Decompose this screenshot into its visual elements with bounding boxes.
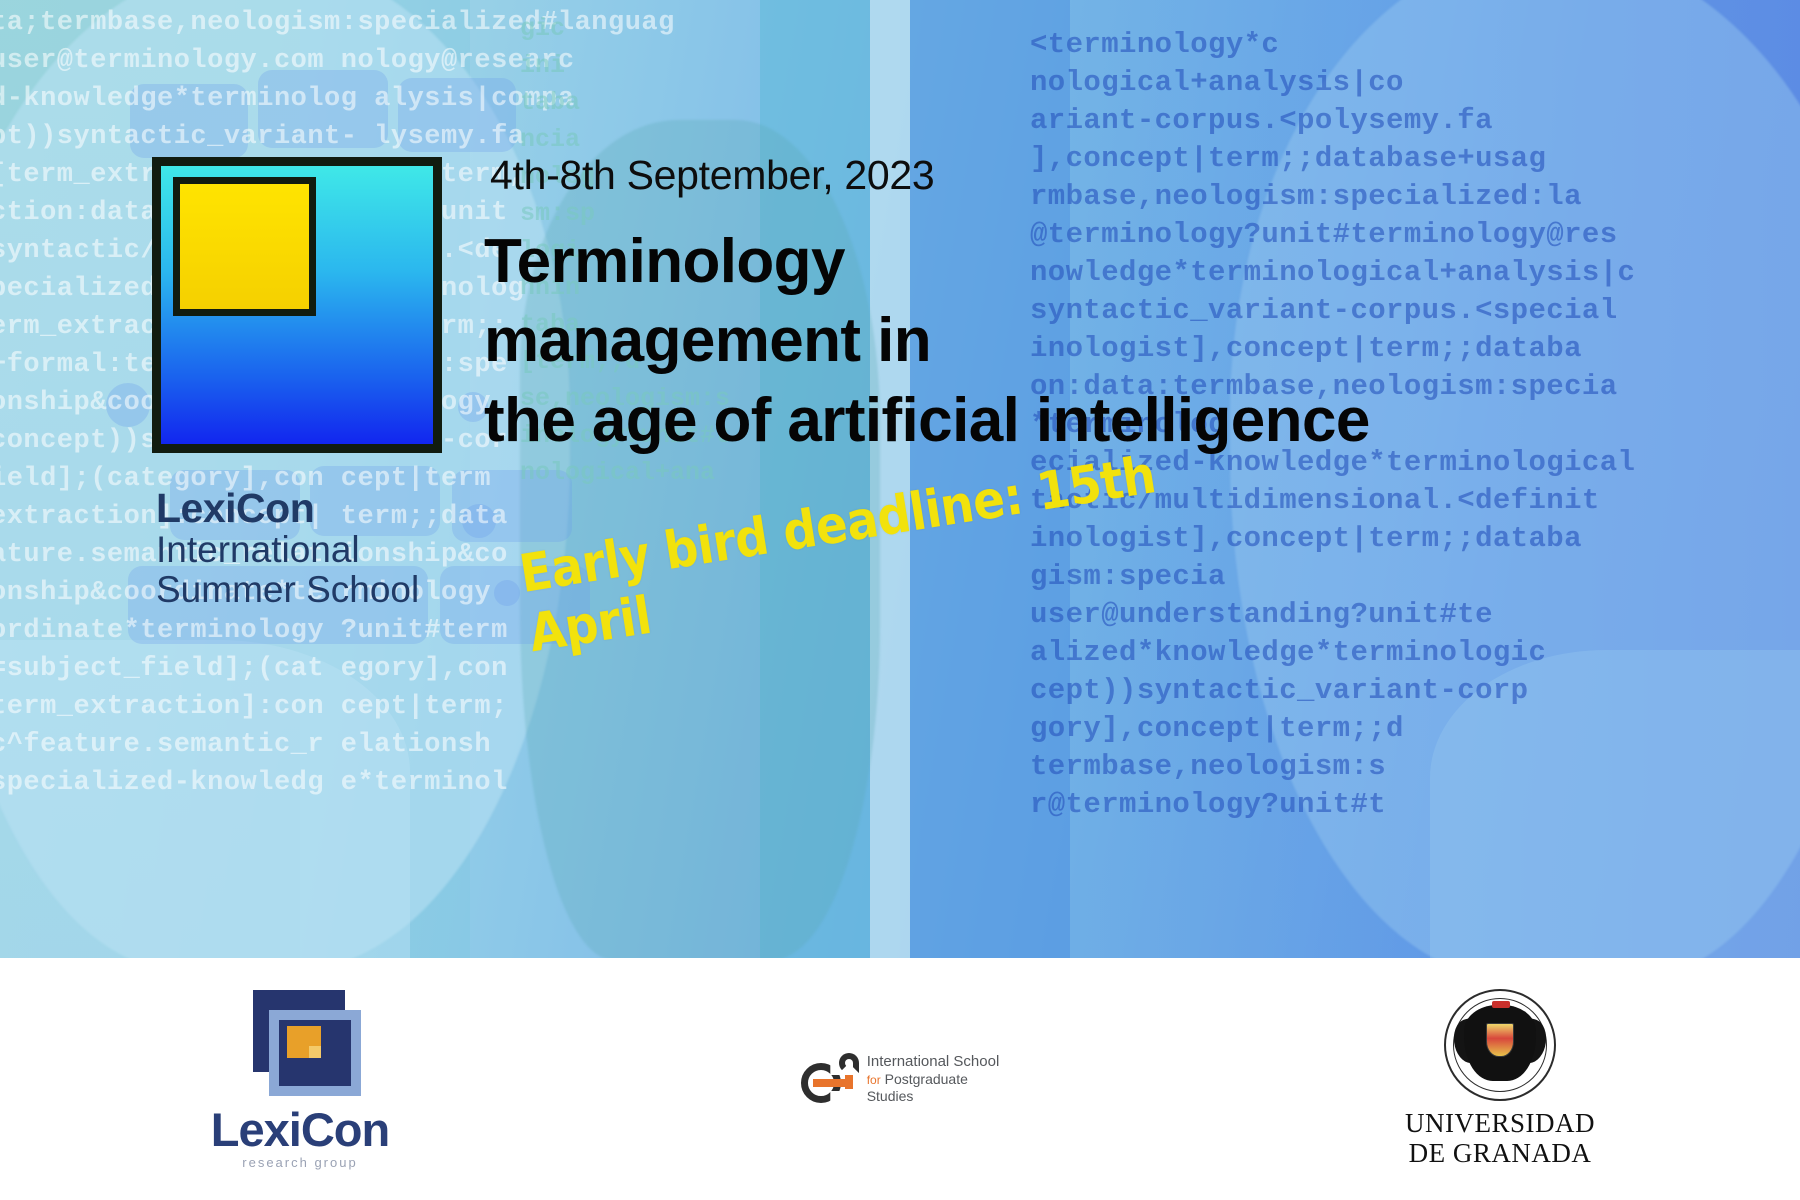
logo-line-summer-school: Summer School [156,570,576,609]
isps-logo: International School for Postgraduate St… [801,1053,1000,1105]
puzzle-piece-decoration [130,84,248,158]
ugr-line-2: DE GRANADA [1405,1139,1595,1169]
puzzle-piece-decoration [398,78,516,152]
hero-section: ta;termbase,neologism:specialized#langua… [0,0,1800,958]
head-silhouette-right-neck [1430,650,1800,958]
event-date: 4th-8th September, 2023 [490,152,934,199]
lexicon-research-subtitle: research group [242,1155,357,1170]
isps-line-1: International School [867,1053,1000,1071]
isps-dot [845,1075,853,1089]
neuron-dot-decoration [106,383,150,427]
lexicon-summer-school-wordmark: LexiCon International Summer School [156,487,576,609]
lexicon-square-logo [152,157,442,453]
page-title: Terminology management in the age of art… [484,222,1524,460]
lexicon-research-title: LexiCon [211,1102,389,1157]
sponsor-lexicon-research-group: LexiCon research group [0,988,600,1170]
logo-line-international: International [156,530,576,569]
logo-yellow-square [173,177,316,316]
isps-bar [813,1079,847,1087]
isps-line-2-text: Postgraduate [885,1071,968,1087]
isps-wordmark: International School for Postgraduate St… [867,1053,1000,1105]
isps-line-2-prefix: for [867,1073,881,1087]
title-line-3: the age of artificial intelligence [484,381,1524,460]
isps-circle-icon [801,1053,859,1105]
lexicon-research-group-icon [235,988,365,1098]
isps-hook [839,1053,859,1073]
sponsor-universidad-de-granada: UNIVERSIDAD DE GRANADA [1200,989,1800,1168]
logo-line-lexicon: LexiCon [156,487,576,530]
isps-line-2: for Postgraduate [867,1071,1000,1088]
title-line-2: management in [484,301,1524,380]
sponsor-international-school: International School for Postgraduate St… [600,1053,1200,1105]
title-line-1: Terminology [484,222,1524,301]
puzzle-piece-decoration [258,70,388,148]
ugr-seal-icon [1444,989,1556,1101]
sponsor-footer: LexiCon research group International Sch… [0,958,1800,1200]
ugr-coat-of-arms [1486,1023,1514,1057]
promotional-banner: ta;termbase,neologism:specialized#langua… [0,0,1800,1200]
isps-line-3: Studies [867,1088,1000,1105]
ugr-line-1: UNIVERSIDAD [1405,1109,1595,1139]
head-silhouette-left-neck [0,640,410,958]
ugr-wordmark: UNIVERSIDAD DE GRANADA [1405,1109,1595,1168]
logo-square-gold-highlight [309,1046,321,1058]
ugr-crown [1492,1001,1510,1008]
